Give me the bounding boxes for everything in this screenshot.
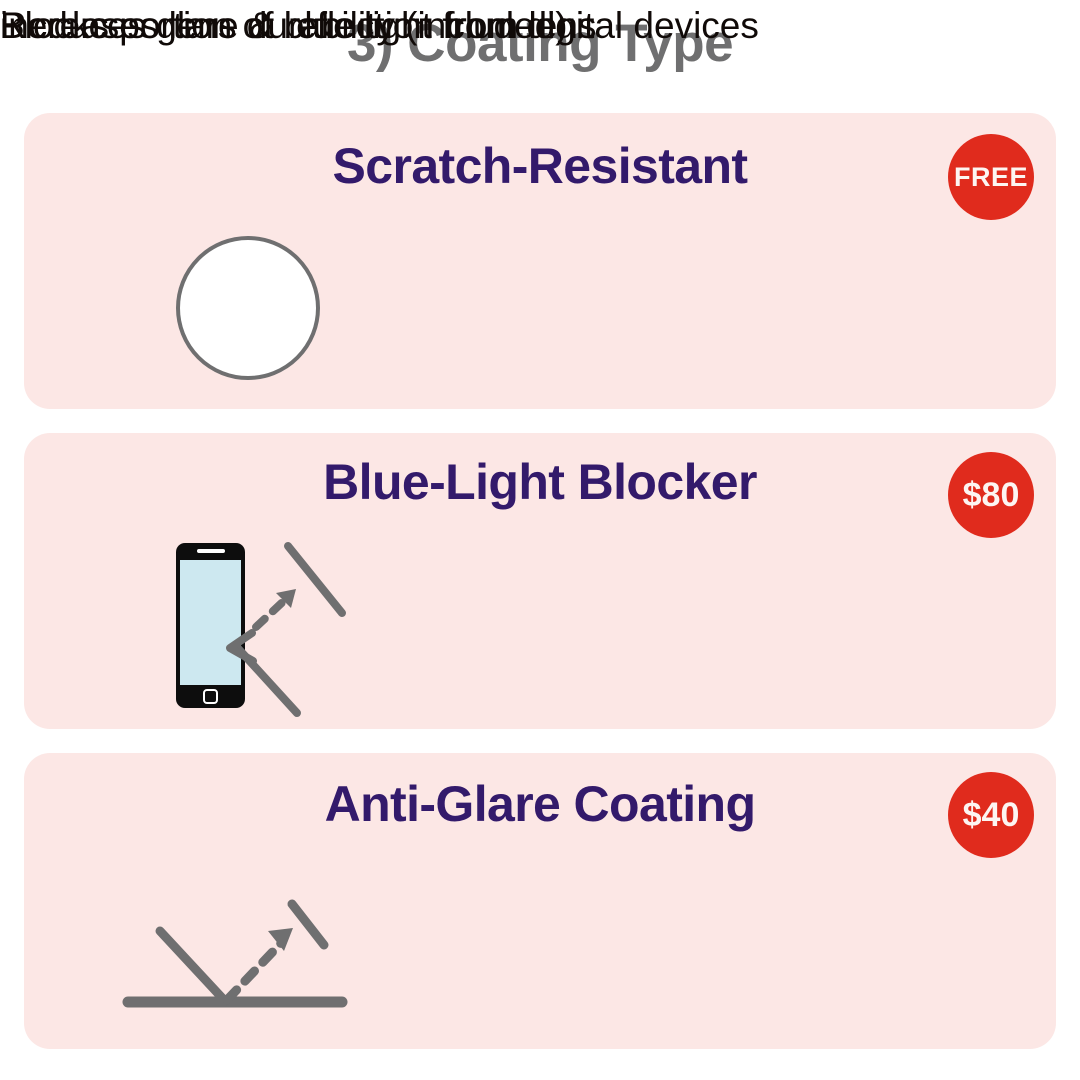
price-badge: FREE <box>948 134 1034 220</box>
coating-option-description: Reduces glare & reflection from lens <box>0 0 596 53</box>
coating-option-heading: Blue-Light Blocker <box>24 455 1056 510</box>
lens-circle-icon <box>176 236 320 380</box>
phone-blue-light-icon <box>160 535 375 720</box>
coating-option-card-anti-glare[interactable]: Anti-Glare Coating $40 <box>24 753 1056 1049</box>
coating-option-card-scratch-resistant[interactable]: Scratch-Resistant FREE <box>24 113 1056 409</box>
coating-option-heading: Anti-Glare Coating <box>24 777 1056 832</box>
price-badge: $80 <box>948 452 1034 538</box>
coating-type-page: 3) Coating Type Scratch-Resistant FREE B… <box>0 0 1080 1080</box>
glare-reflection-diagram <box>110 890 360 1020</box>
price-badge: $40 <box>948 772 1034 858</box>
coating-option-heading: Scratch-Resistant <box>24 139 1056 194</box>
coating-option-card-blue-light-blocker[interactable]: Blue-Light Blocker $80 <box>24 433 1056 729</box>
glare-reflection-icon <box>110 890 360 1020</box>
blue-light-reflection-diagram <box>160 535 375 720</box>
